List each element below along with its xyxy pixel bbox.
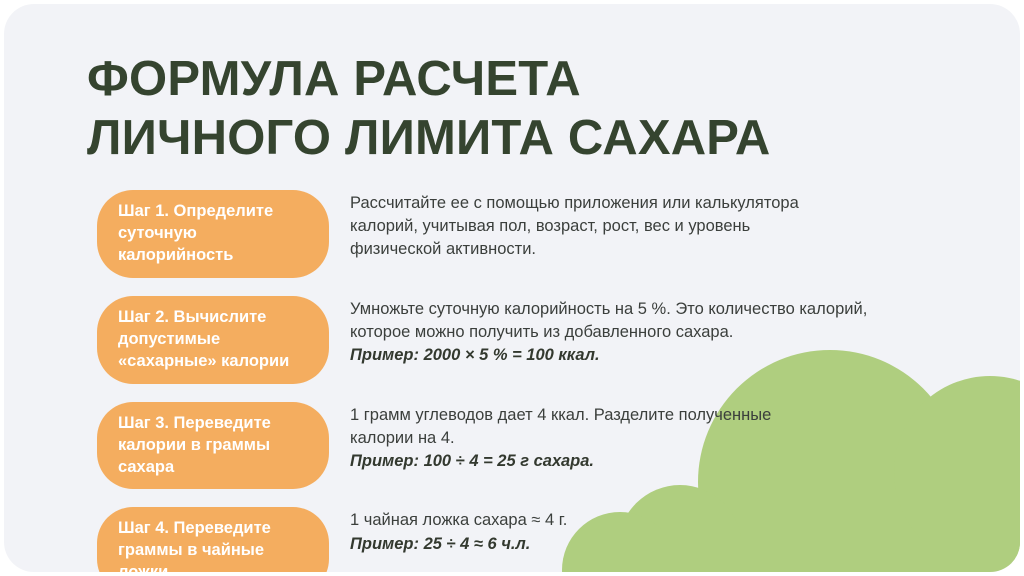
step-body-1-line-1: Рассчитайте ее с помощью приложения или …: [350, 192, 927, 215]
step-badge-2-line-3: «сахарные» калории: [118, 352, 289, 370]
step-badge-3[interactable]: Шаг 3. Переведите калории в граммы сахар…: [97, 402, 329, 490]
step-badge-3-line-1: Шаг 3. Переведите: [118, 414, 271, 432]
step-body-2-line-2: которое можно получить из добавленного с…: [350, 321, 927, 344]
step-body-2: Умножьте суточную калорийность на 5 %. Э…: [329, 296, 927, 367]
step-badge-1-line-3: калорийность: [118, 246, 233, 264]
step-body-4-example: Пример: 25 ÷ 4 ≈ 6 ч.л.: [350, 533, 927, 556]
step-badge-4-line-3: ложки: [118, 563, 168, 572]
step-badge-2-line-1: Шаг 2. Вычислите: [118, 308, 266, 326]
step-badge-2[interactable]: Шаг 2. Вычислите допустимые «сахарные» к…: [97, 296, 329, 384]
step-body-1: Рассчитайте ее с помощью приложения или …: [329, 190, 927, 261]
page-title: ФОРМУЛА РАСЧЕТА ЛИЧНОГО ЛИМИТА САХАРА: [87, 50, 917, 168]
step-badge-3-line-3: сахара: [118, 458, 174, 476]
steps-list: Шаг 1. Определите суточную калорийность …: [97, 190, 927, 572]
step-row: Шаг 1. Определите суточную калорийность …: [97, 190, 927, 278]
step-badge-4-line-1: Шаг 4. Переведите: [118, 519, 271, 537]
step-body-3: 1 грамм углеводов дает 4 ккал. Разделите…: [329, 402, 927, 473]
step-body-3-example: Пример: 100 ÷ 4 = 25 г сахара.: [350, 450, 927, 473]
step-body-2-line-1: Умножьте суточную калорийность на 5 %. Э…: [350, 298, 927, 321]
step-badge-3-line-2: калории в граммы: [118, 436, 270, 454]
step-row: Шаг 2. Вычислите допустимые «сахарные» к…: [97, 296, 927, 384]
step-badge-1[interactable]: Шаг 1. Определите суточную калорийность: [97, 190, 329, 278]
step-badge-1-line-2: суточную: [118, 224, 197, 242]
slide-root: ФОРМУЛА РАСЧЕТА ЛИЧНОГО ЛИМИТА САХАРА Ша…: [0, 0, 1024, 576]
step-row: Шаг 3. Переведите калории в граммы сахар…: [97, 402, 927, 490]
step-body-1-line-3: физической активности.: [350, 238, 927, 261]
step-badge-4[interactable]: Шаг 4. Переведите граммы в чайные ложки: [97, 507, 329, 572]
step-badge-4-line-2: граммы в чайные: [118, 541, 264, 559]
step-row: Шаг 4. Переведите граммы в чайные ложки …: [97, 507, 927, 572]
step-badge-1-line-1: Шаг 1. Определите: [118, 202, 273, 220]
step-body-2-example: Пример: 2000 × 5 % = 100 ккал.: [350, 344, 927, 367]
content-card: ФОРМУЛА РАСЧЕТА ЛИЧНОГО ЛИМИТА САХАРА Ша…: [4, 4, 1020, 572]
step-body-1-line-2: калорий, учитывая пол, возраст, рост, ве…: [350, 215, 927, 238]
step-body-3-line-2: калории на 4.: [350, 427, 927, 450]
page-title-line-2: ЛИЧНОГО ЛИМИТА САХАРА: [87, 109, 917, 168]
step-body-4: 1 чайная ложка сахара ≈ 4 г. Пример: 25 …: [329, 507, 927, 555]
step-badge-2-line-2: допустимые: [118, 330, 220, 348]
step-body-4-line-1: 1 чайная ложка сахара ≈ 4 г.: [350, 509, 927, 532]
page-title-line-1: ФОРМУЛА РАСЧЕТА: [87, 50, 917, 109]
step-body-3-line-1: 1 грамм углеводов дает 4 ккал. Разделите…: [350, 404, 927, 427]
